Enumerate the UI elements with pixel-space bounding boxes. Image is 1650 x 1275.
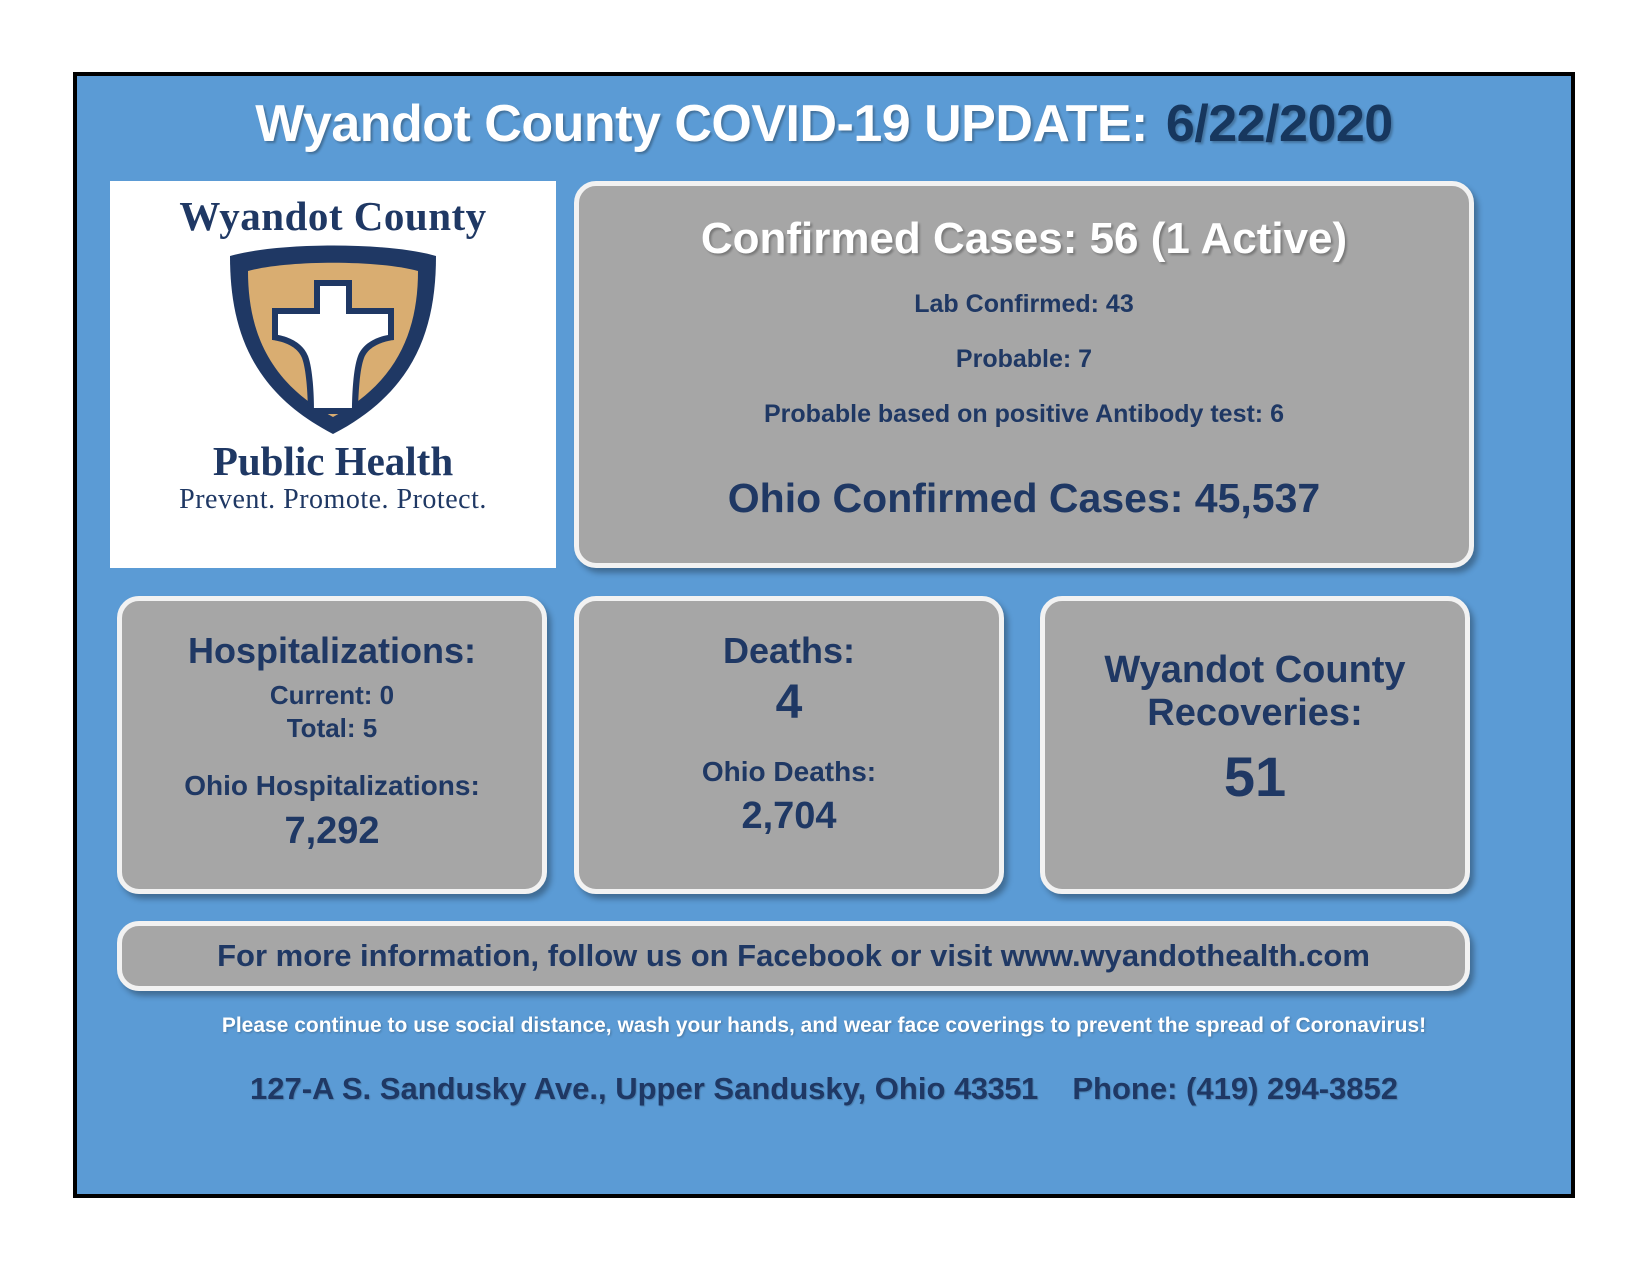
- deaths-value: 4: [776, 677, 803, 730]
- hospitalizations-heading: Hospitalizations:: [188, 631, 476, 671]
- deaths-card: Deaths: 4 Ohio Deaths: 2,704: [574, 596, 1004, 894]
- confirmed-cases-card: Confirmed Cases: 56 (1 Active) Lab Confi…: [574, 181, 1474, 568]
- more-information-bar: For more information, follow us on Faceb…: [117, 921, 1470, 991]
- ohio-confirmed-cases-text: Ohio Confirmed Cases: 45,537: [601, 475, 1447, 522]
- hospitalizations-total-text: Total: 5: [287, 712, 378, 745]
- hospitalizations-current-text: Current: 0: [270, 679, 394, 712]
- recoveries-value: 51: [1224, 748, 1286, 807]
- zip-text: 43351: [954, 1071, 1038, 1106]
- logo-subtitle-text: Public Health: [213, 440, 453, 483]
- more-information-text: For more information, follow us on Faceb…: [217, 938, 1370, 974]
- probable-text: Probable: 7: [601, 345, 1447, 374]
- probable-antibody-text: Probable based on positive Antibody test…: [601, 400, 1447, 429]
- recoveries-heading-line1: Wyandot County: [1104, 649, 1405, 692]
- ohio-hospitalizations-value: 7,292: [284, 811, 379, 853]
- title-main-text: Wyandot County COVID-19 UPDATE:: [255, 95, 1148, 153]
- contact-line: 127-A S. Sandusky Ave., Upper Sandusky, …: [77, 1071, 1571, 1107]
- recoveries-heading-line2: Recoveries:: [1147, 692, 1362, 735]
- page-title: Wyandot County COVID-19 UPDATE:6/22/2020: [77, 94, 1571, 154]
- confirmed-cases-heading: Confirmed Cases: 56 (1 Active): [601, 214, 1447, 264]
- shield-icon: [218, 242, 448, 438]
- ohio-deaths-value: 2,704: [741, 796, 836, 838]
- ohio-deaths-label: Ohio Deaths:: [702, 756, 876, 788]
- lab-confirmed-text: Lab Confirmed: 43: [601, 290, 1447, 319]
- deaths-heading: Deaths:: [723, 631, 855, 671]
- title-date-text: 6/22/2020: [1166, 95, 1393, 153]
- phone-text: Phone: (419) 294-3852: [1072, 1071, 1398, 1106]
- hospitalizations-card: Hospitalizations: Current: 0 Total: 5 Oh…: [117, 596, 547, 894]
- covid-update-poster: Wyandot County COVID-19 UPDATE:6/22/2020…: [73, 72, 1575, 1198]
- logo-title-text: Wyandot County: [179, 195, 486, 238]
- logo-tagline-text: Prevent. Promote. Protect.: [179, 484, 487, 516]
- ohio-hospitalizations-label: Ohio Hospitalizations:: [184, 770, 480, 802]
- wyandot-public-health-logo: Wyandot County Public Health Prevent. Pr…: [110, 181, 556, 568]
- recoveries-card: Wyandot County Recoveries: 51: [1040, 596, 1470, 894]
- address-text: 127-A S. Sandusky Ave., Upper Sandusky, …: [250, 1071, 945, 1106]
- advisory-text: Please continue to use social distance, …: [77, 1014, 1571, 1038]
